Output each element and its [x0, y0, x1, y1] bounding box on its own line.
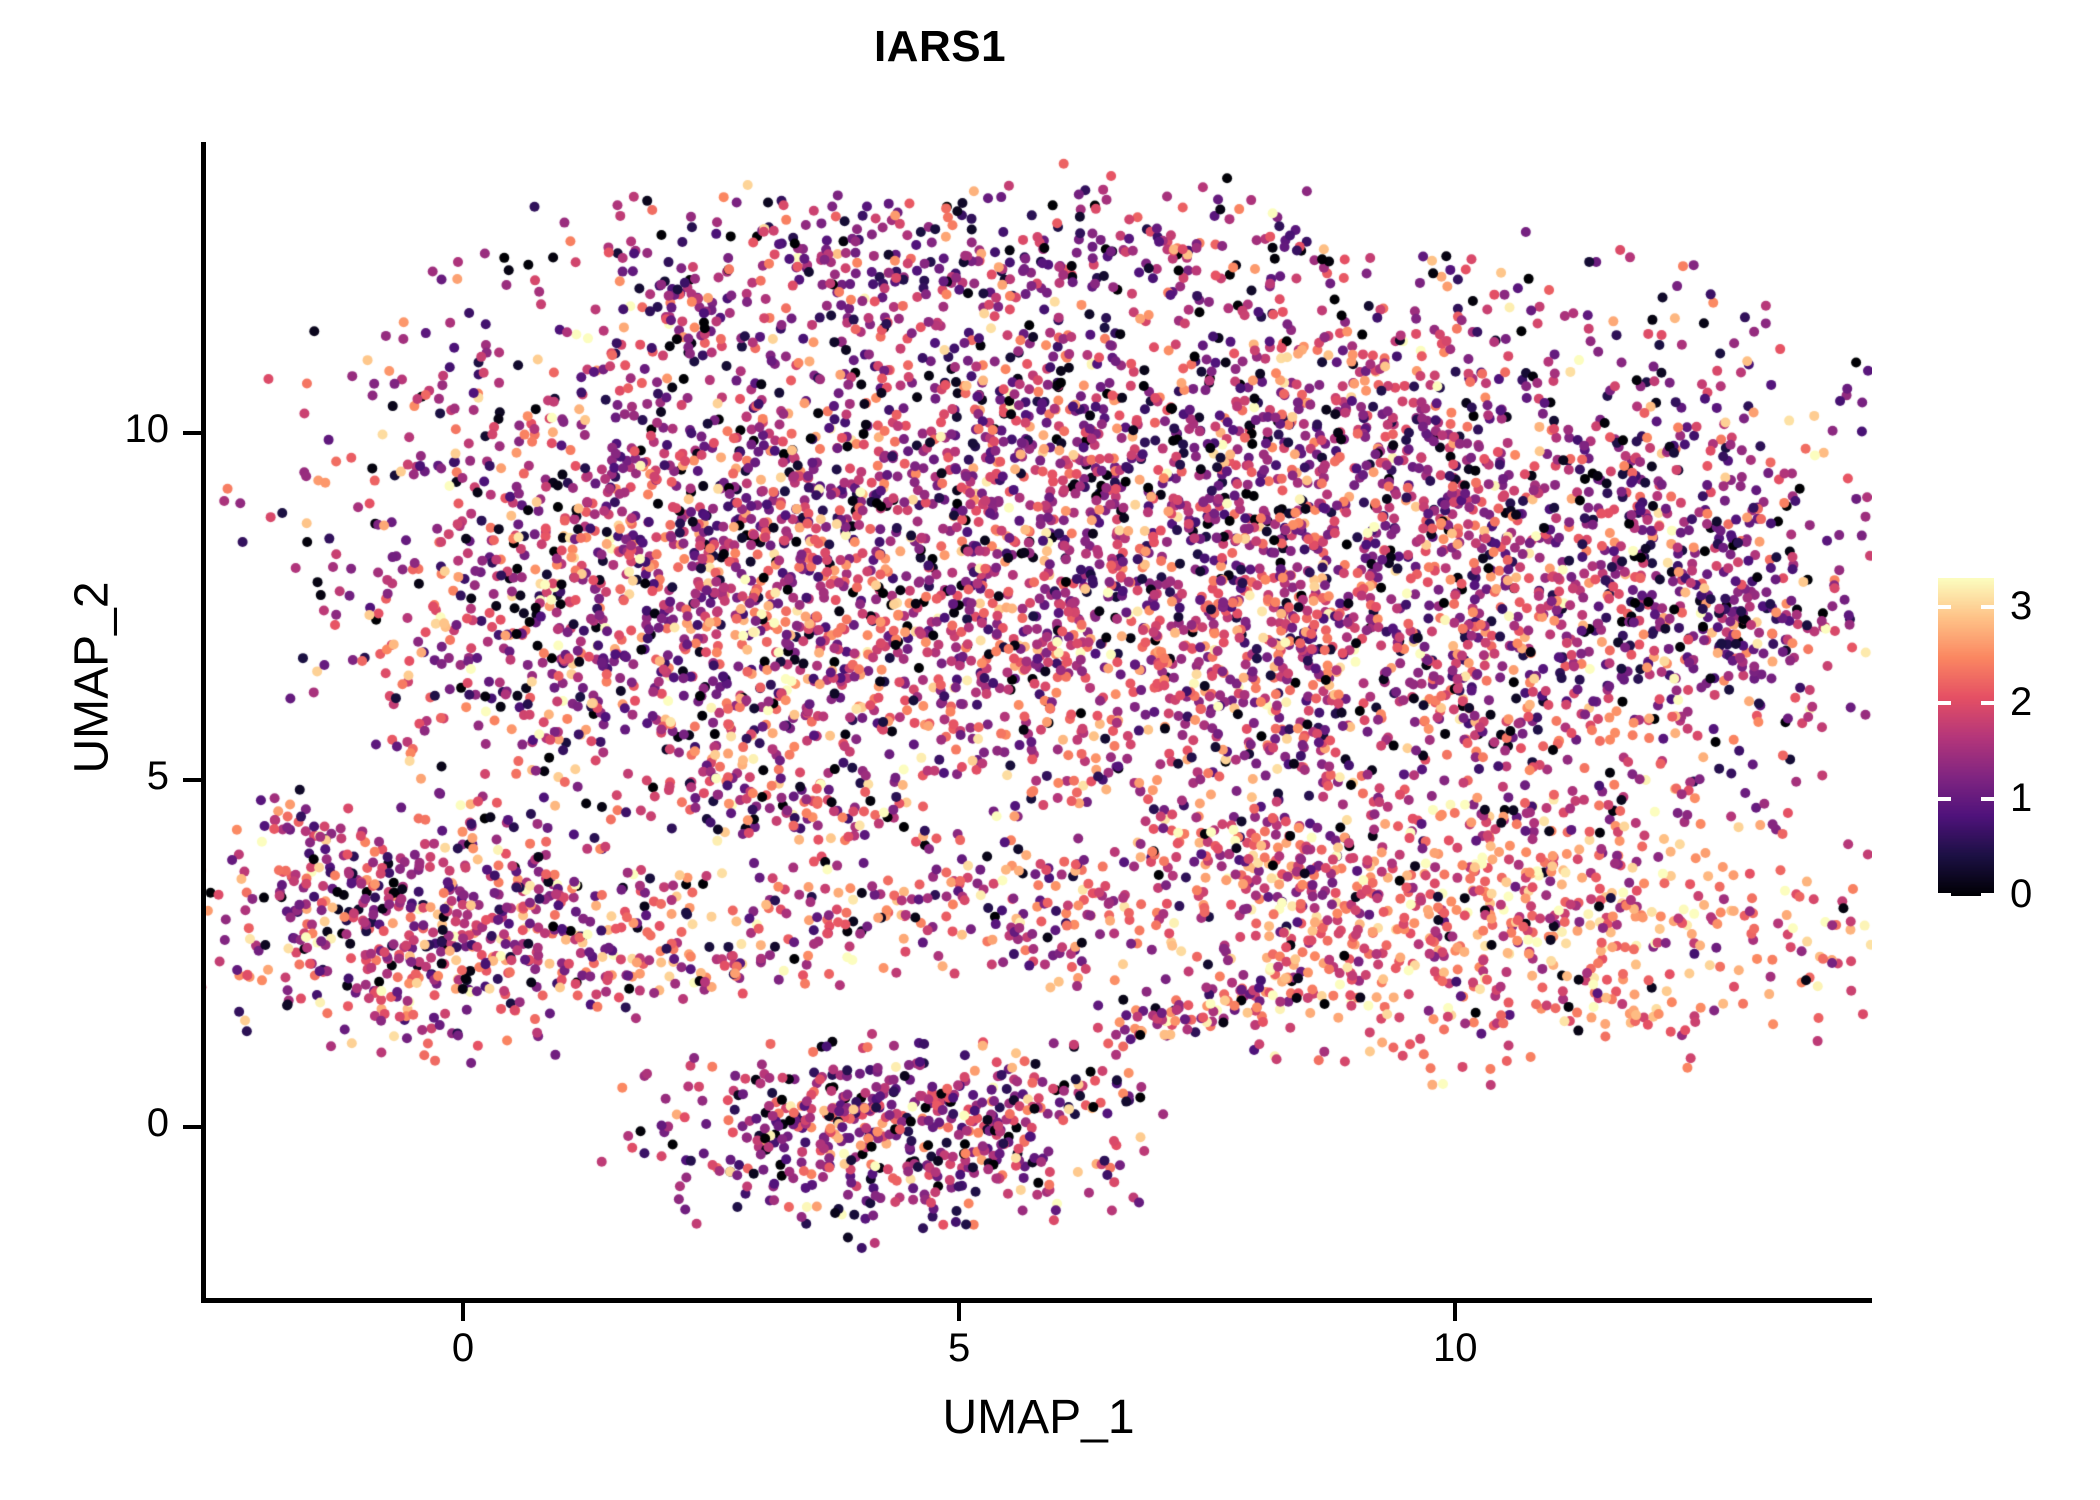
- umap-feature-plot: IARS1 0510 0510 UMAP_1 UMAP_2 3210: [0, 0, 2100, 1500]
- colorbar-tick-mark: [1938, 605, 1994, 609]
- page-title: IARS1: [0, 22, 1880, 72]
- scatter-points-layer: [205, 142, 1872, 1300]
- color-legend: 3210: [1938, 578, 2078, 898]
- x-tick-mark: [461, 1303, 465, 1321]
- plot-panel: [205, 142, 1872, 1300]
- y-tick-mark: [183, 431, 201, 435]
- x-tick-mark: [1453, 1303, 1457, 1321]
- y-tick-mark: [183, 778, 201, 782]
- x-axis-title: UMAP_1: [205, 1390, 1872, 1445]
- x-tick-mark: [957, 1303, 961, 1321]
- colorbar-tick-mark: [1938, 701, 1994, 705]
- x-axis-line: [201, 1298, 1872, 1303]
- colorbar-gradient: [1938, 578, 1994, 896]
- colorbar-tick-mark: [1938, 797, 1994, 801]
- colorbar-tick-mark: [1938, 893, 1994, 897]
- y-tick-mark: [183, 1125, 201, 1129]
- y-axis-line: [201, 142, 206, 1303]
- y-axis-title: UMAP_2: [65, 278, 120, 1078]
